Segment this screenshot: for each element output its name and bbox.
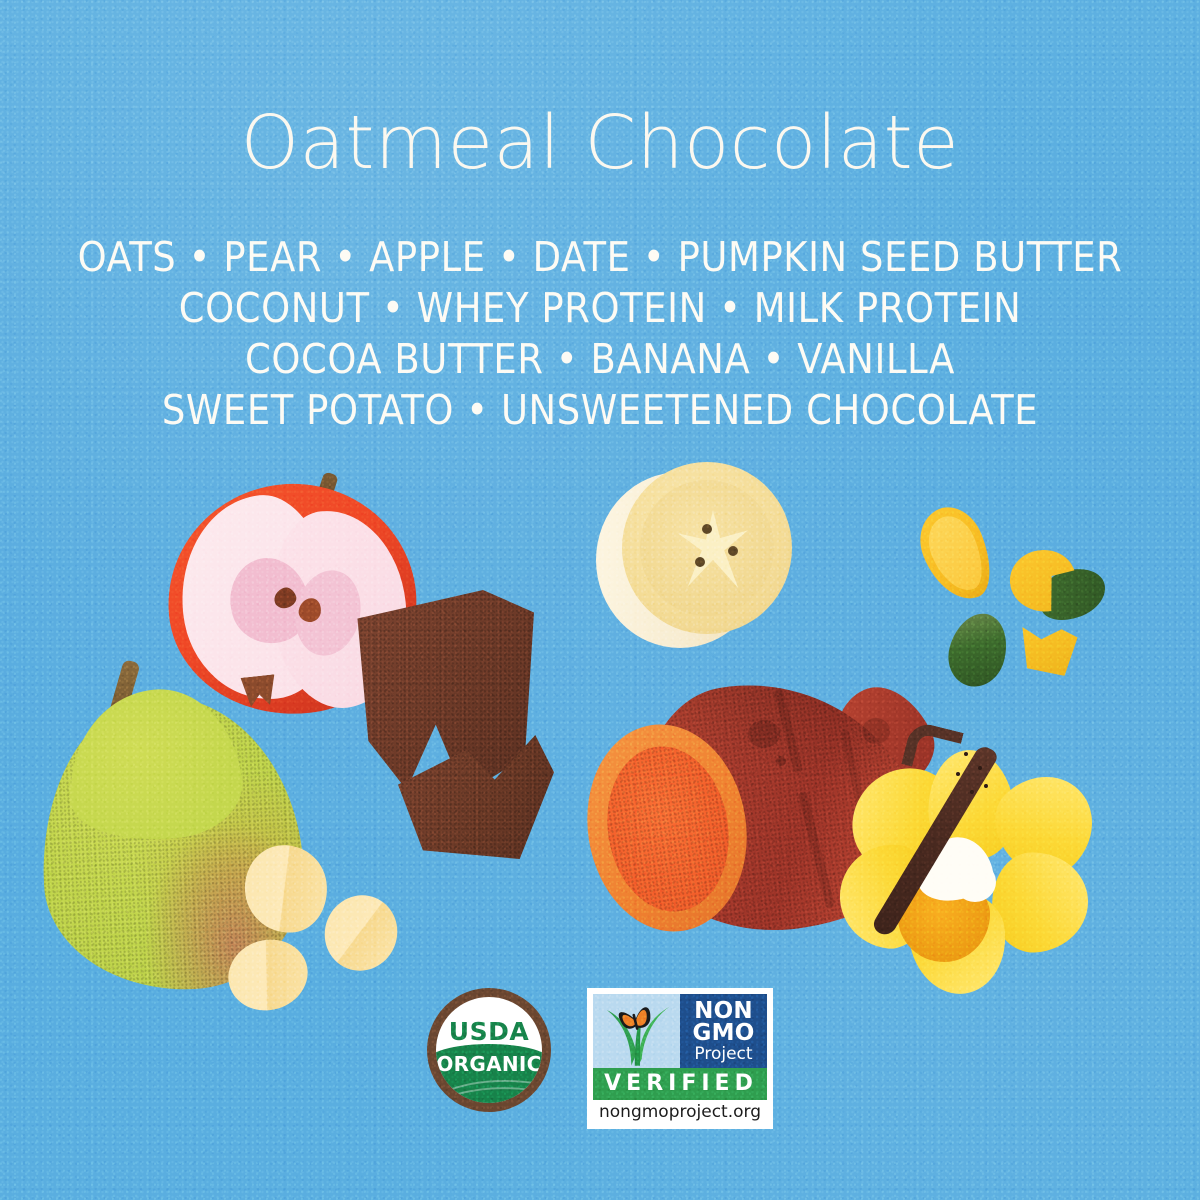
verified-label: VERIFIED: [593, 1068, 767, 1100]
certification-badges: USDA ORGANIC: [0, 988, 1200, 1129]
pumpkin-seed-hull-icon: [909, 498, 1002, 610]
ingredient-list: OATS • PEAR • APPLE • DATE • PUMPKIN SEE…: [0, 232, 1200, 436]
banana-slice-illustration: [596, 462, 792, 656]
vanilla-illustration: [832, 742, 1094, 994]
vanilla-seed-speck: [964, 752, 968, 756]
pumpkin-seed-chip-icon: [1018, 625, 1079, 677]
usda-label: USDA: [436, 1017, 542, 1046]
non-gmo-url: nongmoproject.org: [593, 1100, 767, 1123]
ingredient-line-2: COCONUT • WHEY PROTEIN • MILK PROTEIN: [0, 283, 1200, 334]
page-title: Oatmeal Chocolate: [0, 106, 1200, 180]
sweet-potato-eye: [862, 718, 890, 744]
vanilla-seed-speck: [956, 772, 960, 776]
ingredient-line-1: OATS • PEAR • APPLE • DATE • PUMPKIN SEE…: [0, 232, 1200, 283]
ingredient-line-3: COCOA BUTTER • BANANA • VANILLA: [0, 334, 1200, 385]
butterfly-grass-icon: [593, 994, 680, 1068]
banana-seed-icon: [728, 546, 738, 556]
vanilla-flower-lip: [954, 862, 996, 902]
vanilla-seed-speck: [978, 766, 982, 770]
vanilla-seed-speck: [970, 790, 974, 794]
organic-label: ORGANIC: [436, 1052, 542, 1076]
oat-flake-icon: [313, 884, 408, 981]
product-ingredient-panel: Oatmeal Chocolate OATS • PEAR • APPLE • …: [0, 0, 1200, 1200]
gmo-label: GMO: [693, 1022, 755, 1045]
banana-seed-icon: [695, 557, 705, 567]
sweet-potato-eye: [748, 720, 780, 748]
usda-organic-seal: USDA ORGANIC: [427, 988, 551, 1112]
non-gmo-wordmark-panel: NON GMO Project: [680, 994, 767, 1068]
project-label: Project: [694, 1046, 752, 1063]
vanilla-seed-speck: [984, 784, 988, 788]
pumpkin-seed-kernel-icon: [941, 607, 1015, 694]
non-gmo-artwork-panel: [593, 994, 680, 1068]
non-gmo-project-verified-badge: NON GMO Project VERIFIED nongmoproject.o…: [587, 988, 773, 1129]
ingredient-line-4: SWEET POTATO • UNSWEETENED CHOCOLATE: [0, 385, 1200, 436]
sweet-potato-eye: [776, 756, 786, 766]
banana-seed-icon: [702, 524, 712, 534]
